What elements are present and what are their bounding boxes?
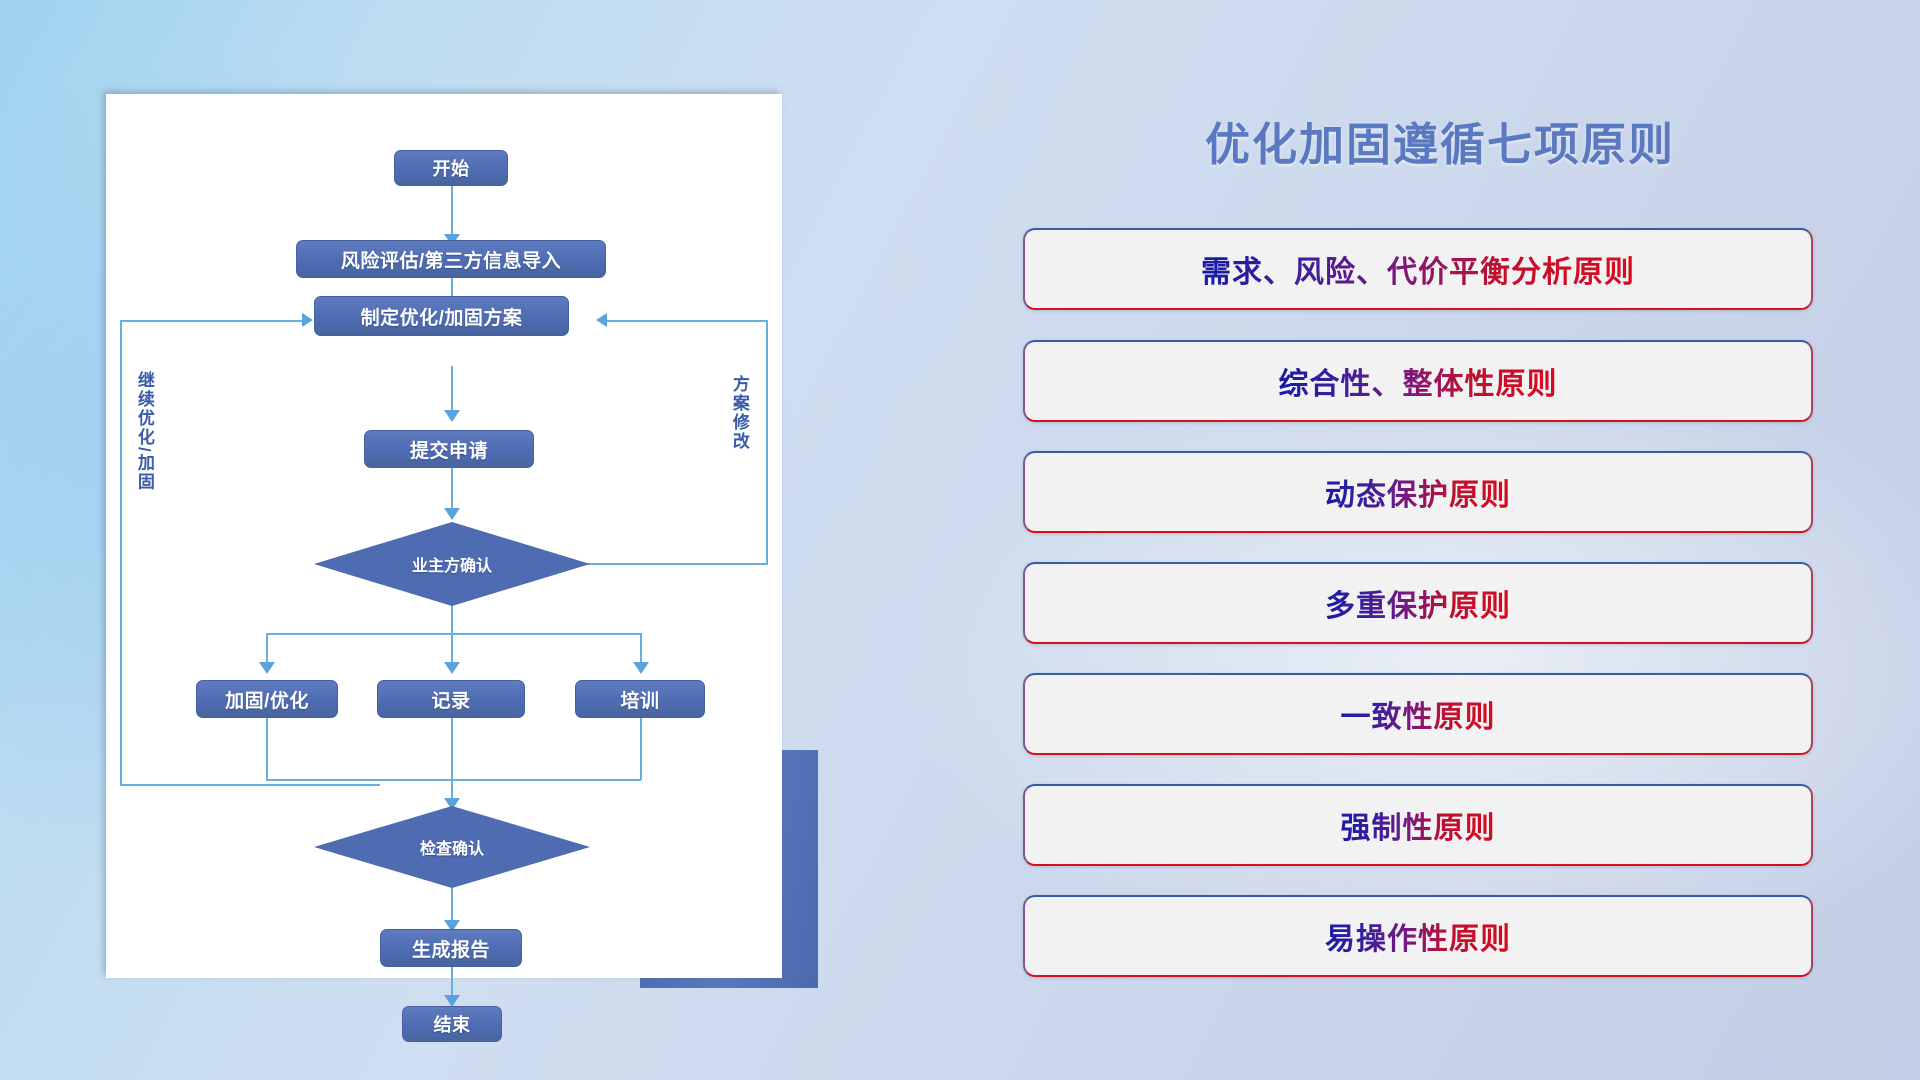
principle-item-6-label: 强制性原则 [1341,803,1496,847]
flow-node-start[interactable]: 开始 [394,150,508,186]
principle-item-5-label: 一致性原则 [1341,692,1496,736]
connector-right-loop-vertical [766,320,768,564]
flow-node-submit[interactable]: 提交申请 [364,430,534,468]
flow-node-end-label: 结束 [434,1011,471,1037]
flow-node-reinforce-label: 加固/优化 [225,686,309,713]
connector-reinforce-down [266,718,268,780]
flow-node-record[interactable]: 记录 [377,680,525,718]
arrow-submit-to-owner-icon [444,508,460,520]
arrow-branch-left-icon [259,662,275,674]
flow-node-plan-label: 制定优化/加固方案 [361,303,523,330]
principle-item-3[interactable]: 动态保护原则 [1023,451,1813,533]
arrow-branch-right-icon [633,662,649,674]
flow-node-end[interactable]: 结束 [402,1006,502,1042]
edge-label-continue-optimize: 继续优化/加固 [135,371,153,492]
connector-training-down [640,718,642,780]
page-title: 优化加固遵循七项原则 [1020,108,1860,173]
principle-item-6[interactable]: 强制性原则 [1023,784,1813,866]
arrow-branch-mid-icon [444,662,460,674]
connector-owner-down [451,604,453,634]
flow-node-report-label: 生成报告 [412,935,490,962]
flow-node-risk-assessment[interactable]: 风险评估/第三方信息导入 [296,240,606,278]
flowchart-card: 开始 风险评估/第三方信息导入 制定优化/加固方案 提交申请 业主方确认 加固/… [106,94,782,978]
principle-item-1[interactable]: 需求、风险、代价平衡分析原则 [1023,228,1813,310]
connector-branch-bus [266,633,641,635]
arrow-left-loop-into-plan-icon [302,313,313,327]
principle-item-1-label: 需求、风险、代价平衡分析原则 [1201,247,1635,291]
connector-record-to-check [451,718,453,806]
connector-right-loop-top [606,320,767,322]
flow-node-start-label: 开始 [433,155,470,181]
flow-node-plan[interactable]: 制定优化/加固方案 [314,296,569,336]
flow-node-reinforce[interactable]: 加固/优化 [196,680,338,718]
connector-right-loop-bottom [576,563,768,565]
principle-item-4-label: 多重保护原则 [1325,581,1511,625]
principle-item-2[interactable]: 综合性、整体性原则 [1023,340,1813,422]
flow-node-report[interactable]: 生成报告 [380,929,522,967]
arrow-right-loop-into-plan-icon [596,313,607,327]
edge-label-plan-revision: 方案修改 [730,375,748,451]
flow-node-owner-confirm[interactable]: 业主方确认 [314,522,590,606]
flow-node-record-label: 记录 [431,686,470,713]
flow-node-risk-assessment-label: 风险评估/第三方信息导入 [341,246,561,273]
principle-item-7[interactable]: 易操作性原则 [1023,895,1813,977]
flow-node-owner-confirm-label: 业主方确认 [412,552,492,576]
flow-node-training-label: 培训 [620,686,659,713]
flow-node-submit-label: 提交申请 [410,436,488,463]
principle-item-3-label: 动态保护原则 [1325,470,1511,514]
flow-node-check-confirm-label: 检查确认 [420,835,484,859]
principles-panel: 优化加固遵循七项原则 需求、风险、代价平衡分析原则 综合性、整体性原则 动态保护… [1020,0,1920,1080]
connector-left-loop-vertical [120,320,122,784]
flow-node-training[interactable]: 培训 [575,680,705,718]
connector-left-loop-bottom [120,784,380,786]
principle-item-5[interactable]: 一致性原则 [1023,673,1813,755]
connector-merge-bus [266,779,641,781]
arrow-plan-to-submit-icon [444,410,460,422]
principle-item-7-label: 易操作性原则 [1325,914,1511,958]
slide-canvas: 开始 风险评估/第三方信息导入 制定优化/加固方案 提交申请 业主方确认 加固/… [0,0,1920,1080]
connector-left-loop-top [120,320,310,322]
flow-node-check-confirm[interactable]: 检查确认 [314,806,590,888]
principle-item-4[interactable]: 多重保护原则 [1023,562,1813,644]
principle-item-2-label: 综合性、整体性原则 [1279,359,1558,403]
